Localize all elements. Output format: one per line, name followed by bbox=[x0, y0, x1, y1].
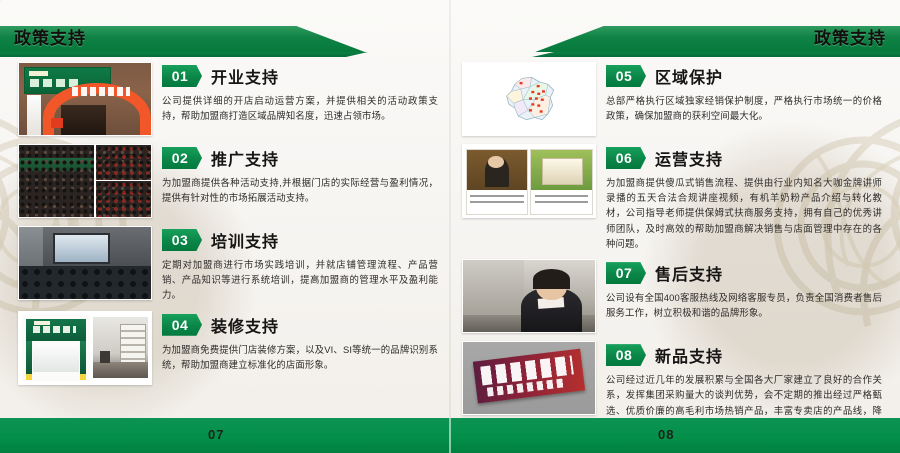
thumbnail-promotion-crowd bbox=[18, 144, 152, 218]
item-title: 区域保护 bbox=[655, 64, 723, 88]
header-banner-right: 政策支持 bbox=[520, 26, 900, 52]
item-description: 总部严格执行区域独家经销保护制度，严格执行市场统一的价格政策，确保加盟商的获利空… bbox=[606, 93, 882, 123]
footer-seam bbox=[449, 418, 451, 453]
item-number-badge: 08 bbox=[606, 344, 646, 366]
item-title: 推广支持 bbox=[211, 146, 279, 170]
item-number-badge: 04 bbox=[162, 314, 202, 336]
item-description: 为加盟商提供傻瓜式销售流程、提供由行业内知名大咖金牌讲师录播的五天合法合规讲座视… bbox=[606, 175, 882, 251]
item-number-badge: 03 bbox=[162, 229, 202, 251]
thumbnail-grand-opening bbox=[18, 62, 152, 136]
item-title: 开业支持 bbox=[211, 64, 279, 88]
header-banner-left: 政策支持 bbox=[0, 26, 380, 52]
item-description: 为加盟商提供各种活动支持,并根据门店的实际经营与盈利情况，提供有针对性的市场拓展… bbox=[162, 175, 438, 205]
support-item-07: 07 售后支持 公司设有全国400客服热线及网络客服专员，负责全国消费者售后服务… bbox=[462, 259, 882, 333]
item-title: 售后支持 bbox=[655, 261, 723, 285]
item-description: 定期对加盟商进行市场实践培训，并就店铺管理流程、产品营销、产品知识等进行系统培训… bbox=[162, 257, 438, 303]
item-number-badge: 02 bbox=[162, 147, 202, 169]
support-item-02: 02 推广支持 为加盟商提供各种活动支持,并根据门店的实际经营与盈利情况，提供有… bbox=[18, 144, 438, 218]
item-number-badge: 06 bbox=[606, 147, 646, 169]
support-item-06: 06 运营支持 为加盟商提供傻瓜式销售流程、提供由行业内知名大咖金牌讲师录播的五… bbox=[462, 144, 882, 251]
page-number-left: 07 bbox=[208, 427, 224, 442]
footer-bar: 07 08 bbox=[0, 418, 900, 453]
item-title: 培训支持 bbox=[211, 228, 279, 252]
item-description: 为加盟商免费提供门店装修方案，以及VI、SI等统一的品牌识别系统，帮助加盟商建立… bbox=[162, 342, 438, 372]
item-description: 公司设有全国400客服热线及网络客服专员，负责全国消费者售后服务工作，树立积极和… bbox=[606, 290, 882, 320]
support-item-04: 04 装修支持 为加盟商免费提供门店装修方案，以及VI、SI等统一的品牌识别系统… bbox=[18, 311, 438, 385]
item-description: 公司提供详细的开店启动运营方案，并提供相关的活动政策支持，帮助加盟商打造区域品牌… bbox=[162, 93, 438, 123]
item-title: 新品支持 bbox=[655, 343, 723, 367]
thumbnail-storefront-design bbox=[18, 311, 152, 385]
header-underline-left bbox=[0, 52, 368, 57]
item-title: 装修支持 bbox=[211, 313, 279, 337]
item-title: 运营支持 bbox=[655, 146, 723, 170]
thumbnail-training-room bbox=[18, 226, 152, 300]
thumbnail-lecture-materials bbox=[462, 144, 596, 218]
brochure-page: 政策支持 政策支持 01 开业支持 bbox=[0, 0, 900, 453]
page-number-right: 08 bbox=[658, 427, 674, 442]
thumbnail-new-arrival-banner bbox=[462, 341, 596, 415]
item-number-badge: 07 bbox=[606, 262, 646, 284]
china-map-icon bbox=[484, 69, 576, 128]
support-item-05: 05 区域保护 总部严格执行区域独家经销保护制度，严格执行市场统一的价格政策，确… bbox=[462, 62, 882, 136]
left-column: 01 开业支持 公司提供详细的开店启动运营方案，并提供相关的活动政策支持，帮助加… bbox=[18, 62, 438, 393]
support-item-03: 03 培训支持 定期对加盟商进行市场实践培训，并就店铺管理流程、产品营销、产品知… bbox=[18, 226, 438, 303]
thumbnail-service-agent bbox=[462, 259, 596, 333]
page-spine bbox=[449, 0, 451, 418]
thumbnail-china-map bbox=[462, 62, 596, 136]
item-number-badge: 01 bbox=[162, 65, 202, 87]
header-title-right: 政策支持 bbox=[814, 28, 886, 50]
item-number-badge: 05 bbox=[606, 65, 646, 87]
header-underline-right bbox=[532, 52, 900, 57]
right-column: 05 区域保护 总部严格执行区域独家经销保护制度，严格执行市场统一的价格政策，确… bbox=[462, 62, 882, 441]
support-item-01: 01 开业支持 公司提供详细的开店启动运营方案，并提供相关的活动政策支持，帮助加… bbox=[18, 62, 438, 136]
header-title-left: 政策支持 bbox=[14, 28, 86, 50]
